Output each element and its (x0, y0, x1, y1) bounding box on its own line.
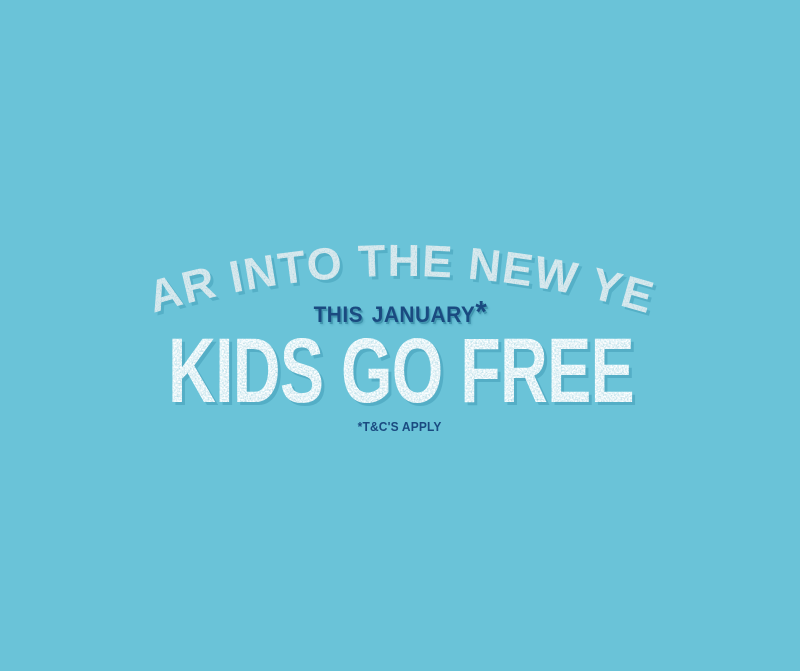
terms-text: *T&C'S APPLY (358, 420, 442, 433)
main-headline-text: KIDS GO FREE (168, 320, 634, 422)
promo-banner: ROAR INTO THE NEW YEAR ROAR INTO THE NEW… (0, 0, 800, 671)
terms-line: *T&C'S APPLY (0, 419, 800, 435)
main-headline-svg: KIDS GO FREE KIDS GO FREE (0, 330, 800, 416)
main-headline: KIDS GO FREE KIDS GO FREE (0, 330, 800, 416)
